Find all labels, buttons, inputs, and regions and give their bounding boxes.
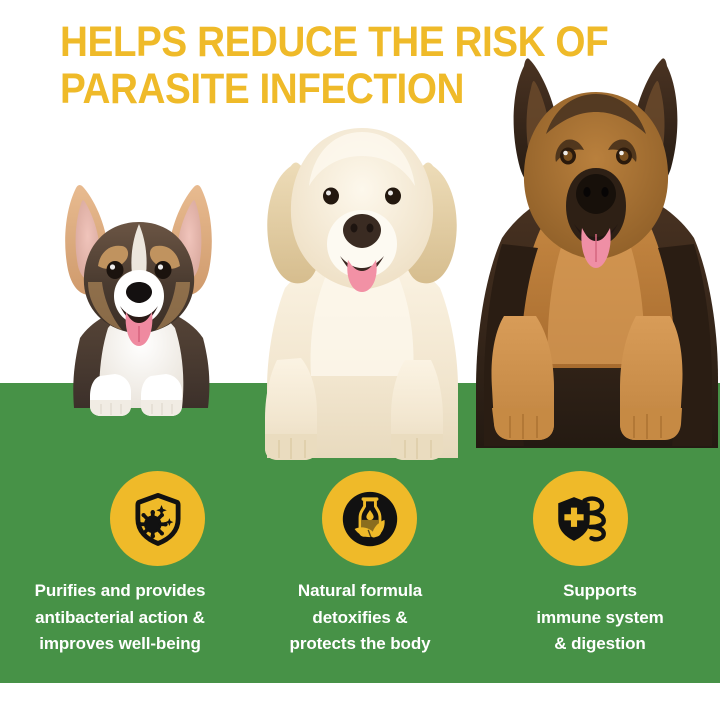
benefit-caption-1: Natural formula detoxifies & protects th… [240,578,480,658]
caption-1-line-2: protects the body [246,631,474,658]
page-title: HELPS REDUCE THE RISK OF PARASITE INFECT… [60,19,600,113]
caption-2-line-0: Supports [486,578,714,605]
headline-line-2: PARASITE INFECTION [60,66,600,113]
headline-line-1: HELPS REDUCE THE RISK OF [60,19,600,66]
benefit-badge-2[interactable] [533,471,628,566]
caption-1-line-1: detoxifies & [246,605,474,632]
benefit-caption-group: Purifies and provides antibacterial acti… [0,578,720,658]
shield-cross-gut-icon [553,491,609,547]
caption-1-line-0: Natural formula [246,578,474,605]
bottle-leaves-icon [341,490,399,548]
caption-0-line-2: improves well-being [6,631,234,658]
shield-germ-icon [130,491,186,547]
caption-2-line-2: & digestion [486,631,714,658]
caption-0-line-1: antibacterial action & [6,605,234,632]
promo-banner: HELPS REDUCE THE RISK OF PARASITE INFECT… [0,0,720,720]
benefit-caption-2: Supports immune system & digestion [480,578,720,658]
benefit-badge-1[interactable] [322,471,417,566]
benefit-caption-0: Purifies and provides antibacterial acti… [0,578,240,658]
caption-0-line-0: Purifies and provides [6,578,234,605]
caption-2-line-1: immune system [486,605,714,632]
benefit-badge-0[interactable] [110,471,205,566]
